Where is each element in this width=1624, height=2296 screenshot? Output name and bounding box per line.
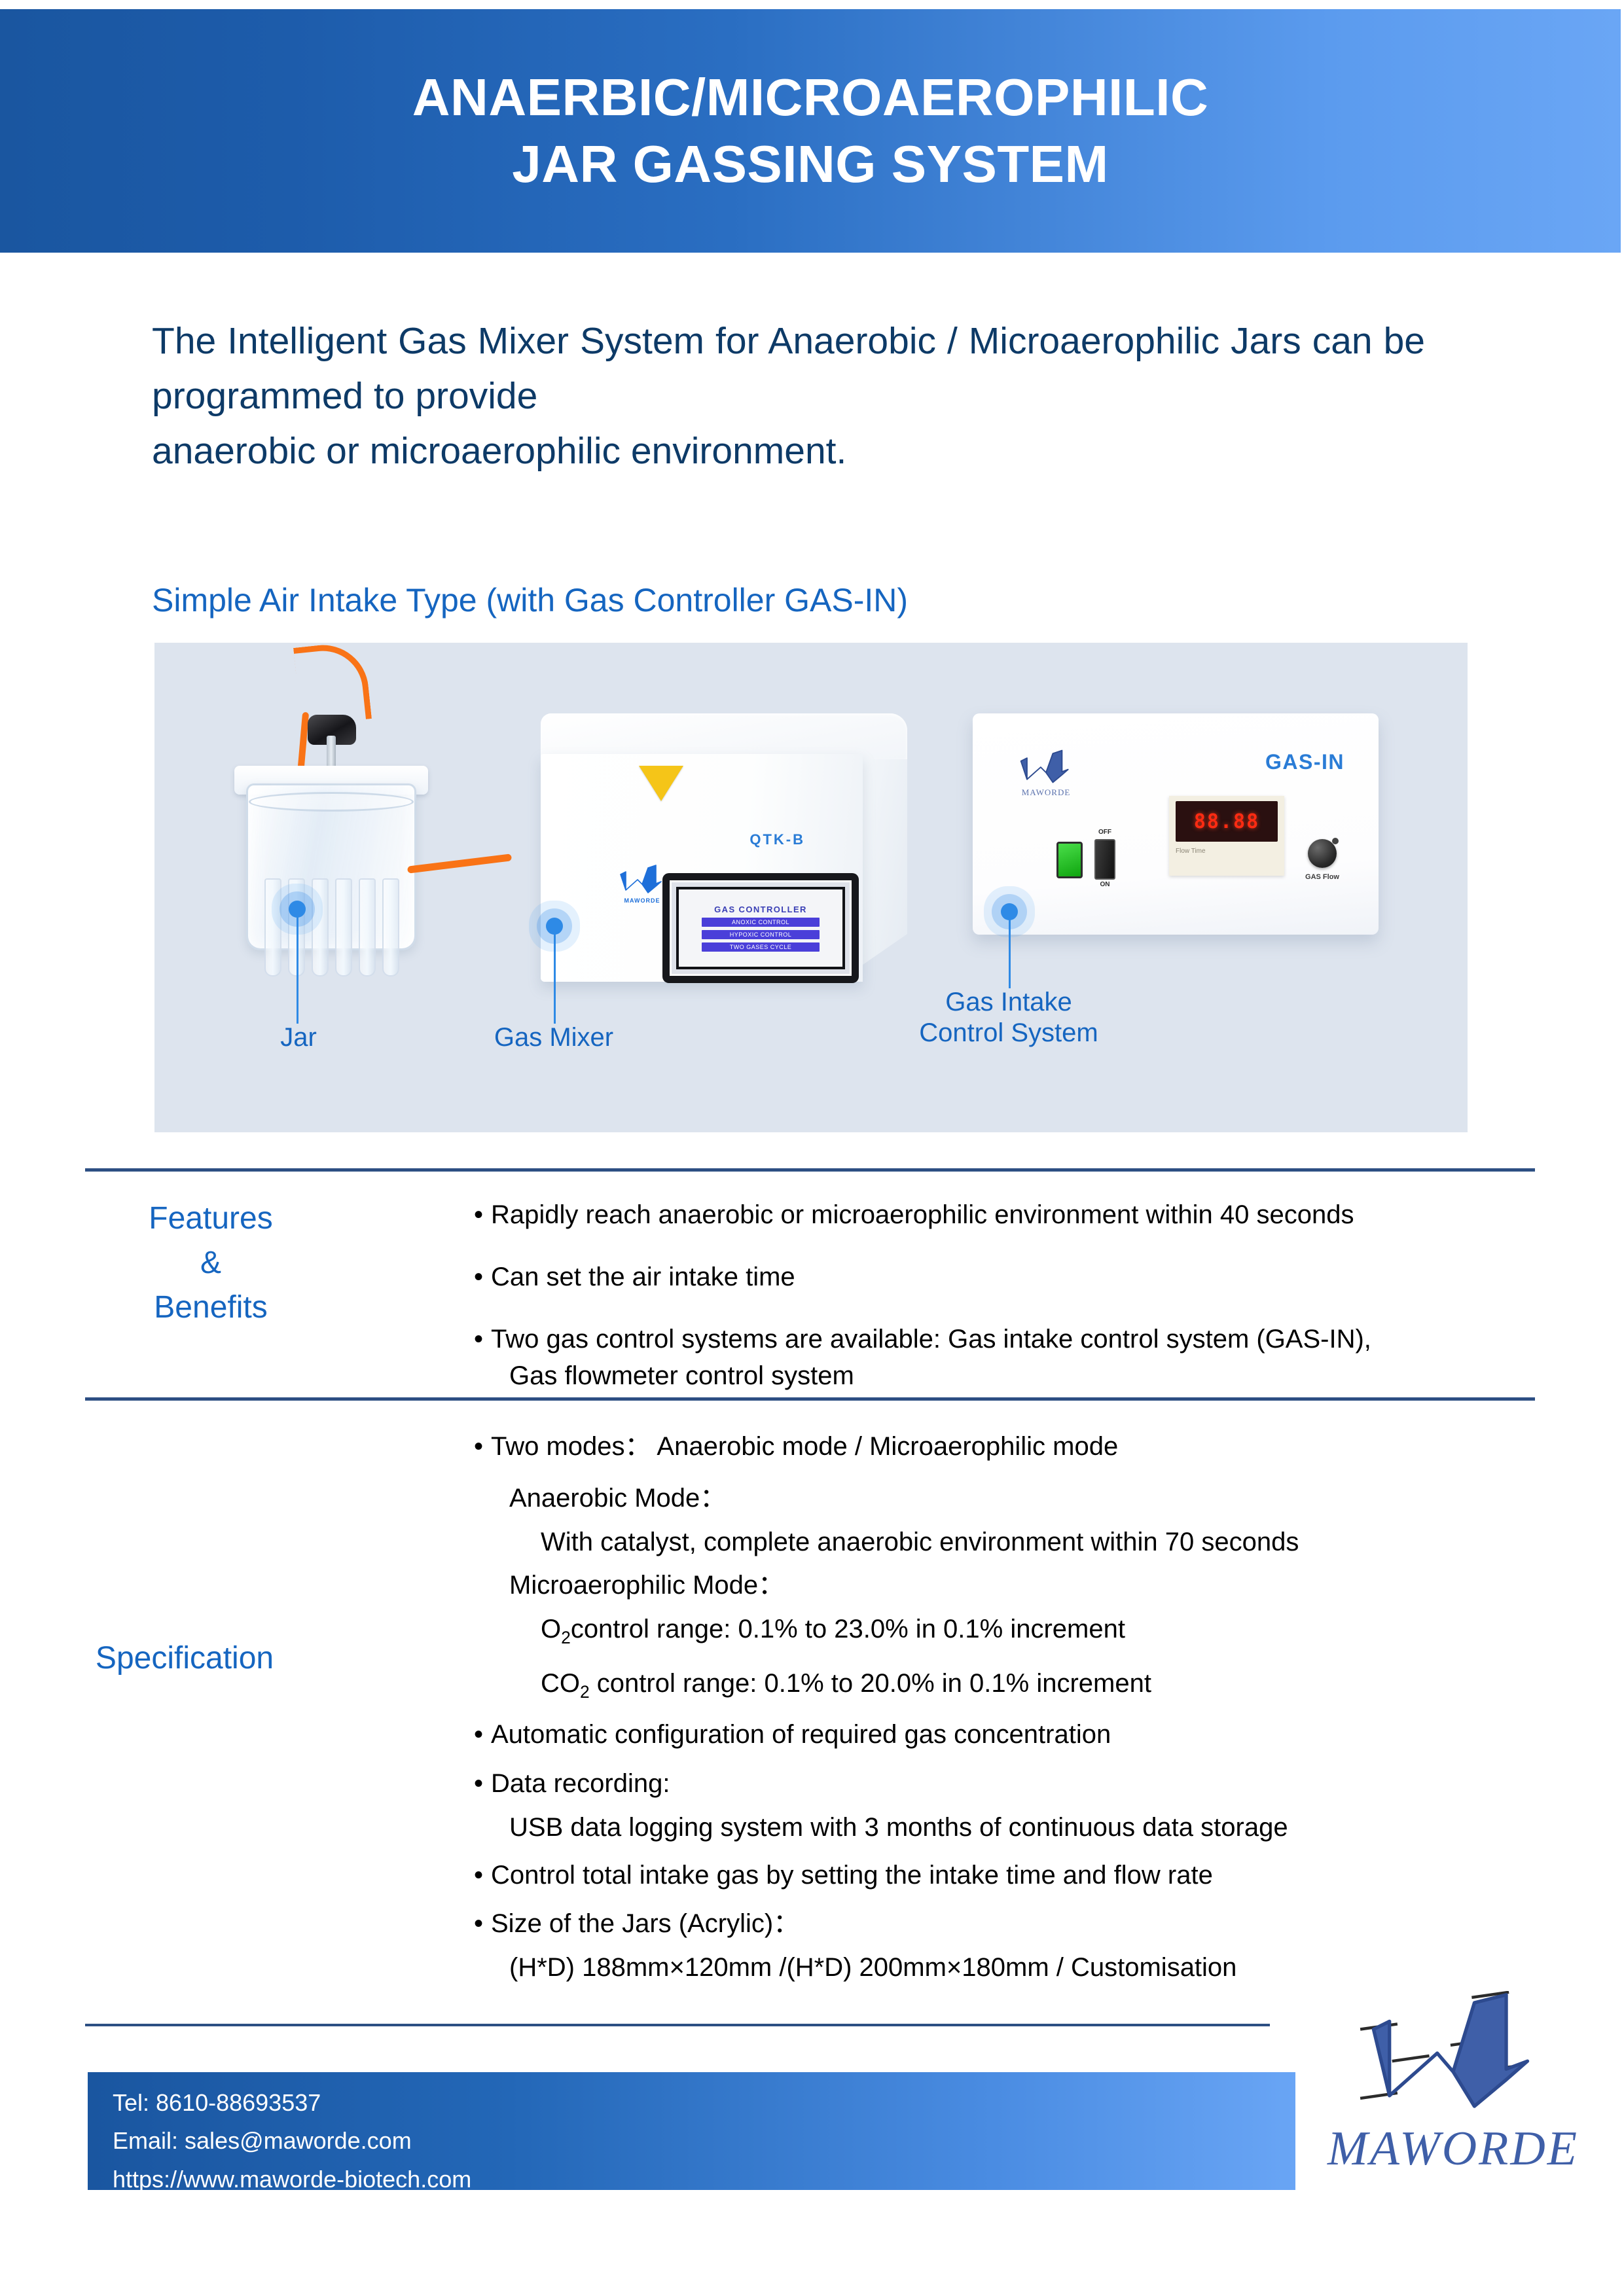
features-label-line-2: & <box>73 1241 348 1285</box>
callout-leader-gas-mixer <box>554 931 556 1024</box>
mixer-touchscreen[interactable]: GAS CONTROLLER ANOXIC CONTROL HYPOXIC CO… <box>662 873 859 983</box>
spec-usb-detail: USB data logging system with 3 months of… <box>473 1809 1546 1846</box>
spec-item-control-total: Control total intake gas by setting the … <box>473 1857 1546 1894</box>
footer-contact-bar: Tel: 8610-88693537 Email: sales@maworde.… <box>88 2072 1295 2190</box>
divider-above-footer <box>85 2024 1270 2026</box>
display-value: 88.88 <box>1194 810 1259 833</box>
mixer-side-panel <box>863 745 907 965</box>
divider-above-features <box>85 1168 1535 1172</box>
maworde-logo-gasin: MAWORDE <box>1015 749 1077 798</box>
power-indicator-led <box>1056 842 1083 878</box>
touchscreen-bezel: GAS CONTROLLER ANOXIC CONTROL HYPOXIC CO… <box>670 880 852 976</box>
feature-item: Rapidly reach anaerobic or microaerophil… <box>473 1196 1533 1234</box>
spec-co2-range: CO2 control range: 0.1% to 20.0% in 0.1%… <box>473 1665 1546 1704</box>
callout-label-line-1: Gas Intake <box>878 987 1140 1018</box>
features-section-label: Features & Benefits <box>73 1196 348 1330</box>
jar-rim <box>249 792 414 812</box>
specification-section-label: Specification <box>47 1636 322 1681</box>
touchscreen-lcd: GAS CONTROLLER ANOXIC CONTROL HYPOXIC CO… <box>676 887 845 969</box>
culture-tube <box>382 878 399 977</box>
footer-brand-logo: MAWORDE <box>1309 1991 1597 2177</box>
lcd-button-two-gases-cycle[interactable]: TWO GASES CYCLE <box>702 942 820 952</box>
features-label-line-3: Benefits <box>73 1285 348 1330</box>
co2-symbol: CO <box>541 1669 580 1698</box>
footer-tel: Tel: 8610-88693537 <box>113 2084 1295 2122</box>
intro-paragraph: The Intelligent Gas Mixer System for Ana… <box>152 314 1425 478</box>
callout-label-line-2: Control System <box>878 1018 1140 1049</box>
mixer-front-panel: QTK-B MAWORDE GAS CONTROLLER ANOXIC CONT… <box>541 754 863 982</box>
mixer-model-label: QTK-B <box>749 831 805 848</box>
knob-pointer <box>1332 838 1339 844</box>
page-title-line-2: JAR GASSING SYSTEM <box>512 131 1108 198</box>
lcd-button-anoxic-control[interactable]: ANOXIC CONTROL <box>702 918 820 927</box>
switch-off-label: OFF <box>1094 829 1115 836</box>
spec-micro-mode-heading: Microaerophilic Mode： <box>473 1567 1546 1604</box>
maworde-wordmark-gasin: MAWORDE <box>1015 787 1077 798</box>
anaerobic-jar-illustration <box>220 682 456 990</box>
callout-label-gas-mixer: Gas Mixer <box>449 1022 659 1053</box>
section-subtitle: Simple Air Intake Type (with Gas Control… <box>152 581 908 619</box>
o2-symbol: O <box>541 1615 561 1643</box>
page-header: ANAERBIC/MICROAEROPHILIC JAR GASSING SYS… <box>0 9 1621 253</box>
gas-flow-knob[interactable] <box>1308 839 1337 868</box>
gas-intake-control-unit-illustration: MAWORDE GAS-IN OFF ON 88.88 Flow Time GA… <box>973 713 1379 935</box>
display-label: Flow Time <box>1169 842 1284 855</box>
o2-subscript: 2 <box>561 1628 571 1647</box>
flow-time-meter: 88.88 Flow Time <box>1169 796 1284 876</box>
lcd-button-hypoxic-control[interactable]: HYPOXIC CONTROL <box>702 930 820 939</box>
feature-item: Can set the air intake time <box>473 1259 1533 1296</box>
spec-anaerobic-mode-detail: With catalyst, complete anaerobic enviro… <box>473 1524 1546 1561</box>
culture-tube <box>264 878 281 977</box>
spec-item-data-recording: Data recording: <box>473 1765 1546 1803</box>
callout-leader-gas-intake <box>1009 916 1011 988</box>
intro-line-3: anaerobic or microaerophilic environment… <box>152 424 1425 479</box>
divider-above-specification <box>85 1397 1535 1401</box>
callout-label-gas-intake: Gas Intake Control System <box>878 987 1140 1049</box>
product-image-panel: QTK-B MAWORDE GAS CONTROLLER ANOXIC CONT… <box>154 643 1468 1132</box>
culture-tube <box>335 878 352 977</box>
switch-on-label: ON <box>1094 881 1115 888</box>
spec-anaerobic-mode-heading: Anaerobic Mode： <box>473 1480 1546 1517</box>
feature-item-continuation: Gas flowmeter control system <box>473 1357 1533 1395</box>
co2-subscript: 2 <box>580 1682 590 1702</box>
o2-range-text: control range: 0.1% to 23.0% in 0.1% inc… <box>571 1615 1125 1643</box>
culture-tube <box>359 878 376 977</box>
features-bullet-list: Rapidly reach anaerobic or microaerophil… <box>473 1196 1533 1400</box>
warning-triangle-icon <box>639 766 683 801</box>
specification-bullet-list: Two modes： Anaerobic mode / Microaerophi… <box>473 1428 1546 1993</box>
footer-logo-wordmark: MAWORDE <box>1309 2121 1597 2177</box>
spec-o2-range: O2control range: 0.1% to 23.0% in 0.1% i… <box>473 1611 1546 1650</box>
spec-item-auto-config: Automatic configuration of required gas … <box>473 1716 1546 1753</box>
intro-line-1: The Intelligent Gas Mixer System for Ana… <box>152 320 958 362</box>
page-title-line-1: ANAERBIC/MICROAEROPHILIC <box>412 64 1208 131</box>
mixer-top-panel <box>541 713 907 759</box>
orange-hose-to-mixer <box>407 853 512 873</box>
maworde-butterfly-icon <box>618 864 666 894</box>
lcd-title: GAS CONTROLLER <box>714 905 807 914</box>
callout-leader-jar <box>297 914 298 1024</box>
spec-item-jar-size: Size of the Jars (Acrylic)： <box>473 1905 1546 1943</box>
seven-segment-display: 88.88 <box>1176 801 1278 842</box>
maworde-butterfly-icon <box>1355 1991 1551 2115</box>
features-label-line-1: Features <box>73 1196 348 1241</box>
footer-email[interactable]: Email: sales@maworde.com <box>113 2122 1295 2160</box>
footer-website[interactable]: https://www.maworde-biotech.com <box>113 2161 1295 2198</box>
callout-label-jar: Jar <box>233 1022 364 1053</box>
maworde-butterfly-icon <box>1018 749 1074 784</box>
gas-mixer-illustration: QTK-B MAWORDE GAS CONTROLLER ANOXIC CONT… <box>541 713 907 982</box>
gasin-model-label: GAS-IN <box>1265 750 1344 774</box>
culture-tube <box>312 878 329 977</box>
spec-jar-size-detail: (H*D) 188mm×120mm /(H*D) 200mm×180mm / C… <box>473 1949 1546 1986</box>
gas-flow-knob-label: GAS Flow <box>1297 873 1347 881</box>
spec-item-two-modes: Two modes： Anaerobic mode / Microaerophi… <box>473 1428 1546 1465</box>
feature-item: Two gas control systems are available: G… <box>473 1321 1533 1358</box>
power-rocker-switch[interactable] <box>1094 839 1115 880</box>
co2-range-text: control range: 0.1% to 20.0% in 0.1% inc… <box>590 1669 1151 1698</box>
